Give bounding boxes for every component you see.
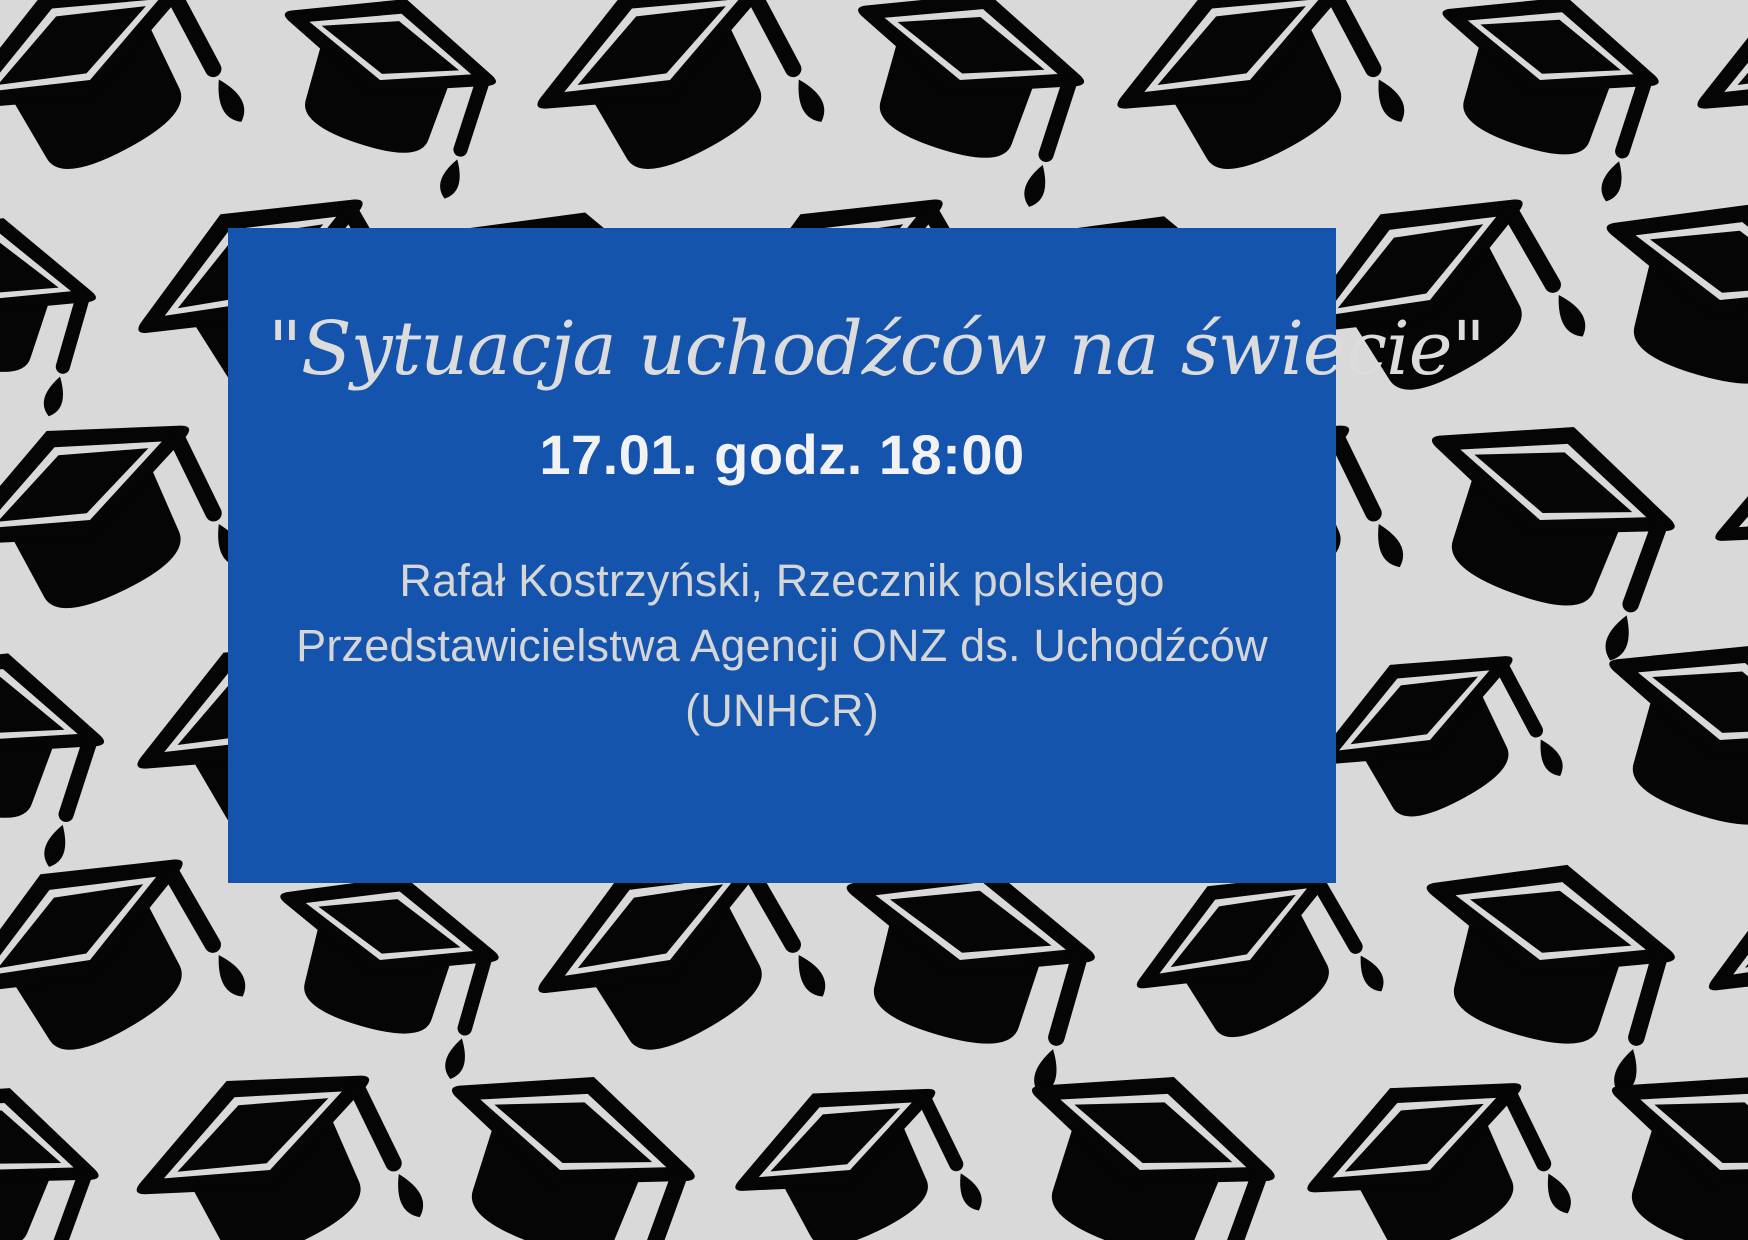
announcement-card: "Sytuacja uchodźców na świecie" 17.01. g… — [228, 228, 1336, 883]
event-poster: "Sytuacja uchodźców na świecie" 17.01. g… — [0, 0, 1748, 1240]
speaker-description: Rafał Kostrzyński, Rzecznik polskiego Pr… — [277, 486, 1287, 744]
event-title: "Sytuacja uchodźców na świecie" — [268, 228, 1296, 386]
speaker-line-1: Rafał Kostrzyński, Rzecznik polskiego — [277, 548, 1287, 613]
speaker-line-3: (UNHCR) — [277, 678, 1287, 743]
speaker-line-2: Przedstawicielstwa Agencji ONZ ds. Uchod… — [277, 613, 1287, 678]
event-date-time: 17.01. godz. 18:00 — [268, 386, 1296, 486]
